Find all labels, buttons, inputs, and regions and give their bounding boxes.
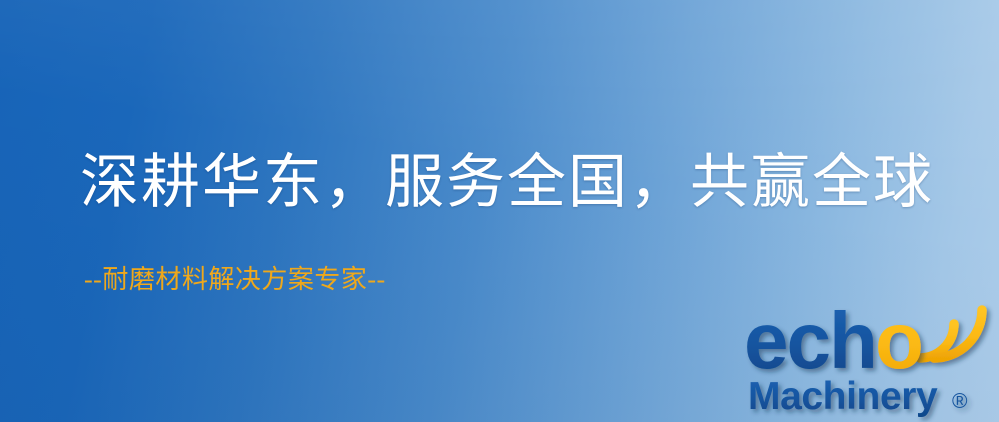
logo-wordmark-prefix: ech [744, 296, 876, 385]
banner-headline: 深耕华东，服务全国，共赢全球 [80, 152, 934, 214]
logo-wordmark-accent: o [875, 296, 924, 385]
logo-tagline: Machinery [748, 375, 938, 418]
hero-banner: 深耕华东，服务全国，共赢全球 --耐磨材料解决方案专家-- [0, 0, 999, 422]
echo-machinery-logo[interactable]: ech o Machinery ® [744, 292, 996, 420]
logo-registered-mark: ® [952, 390, 968, 413]
signal-wave-arcs-icon [920, 310, 982, 358]
banner-subtitle: --耐磨材料解决方案专家-- [84, 266, 386, 295]
